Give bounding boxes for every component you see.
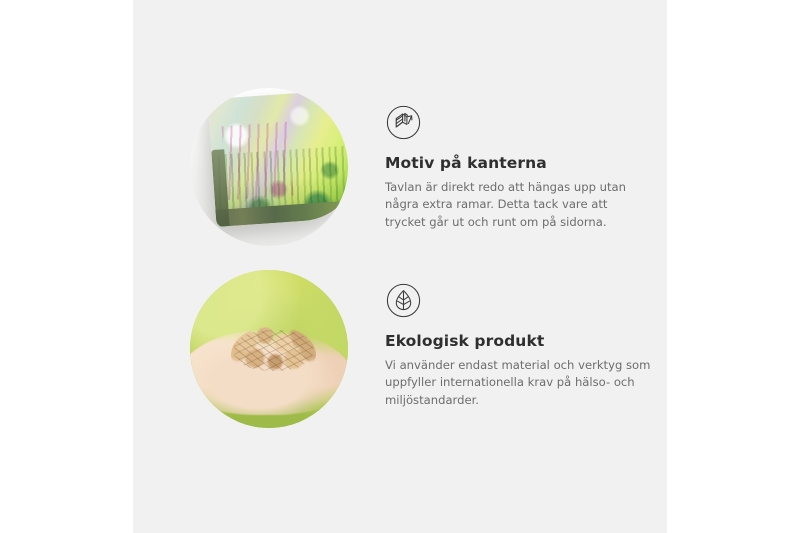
feature-body: Tavlan är direkt redo att hängas upp uta…	[385, 179, 651, 232]
canvas-print-corner-photo	[190, 88, 348, 246]
content-panel: Motiv på kanterna Tavlan är direkt redo …	[133, 0, 667, 533]
feature-text-block: Ekologisk produkt Vi använder endast mat…	[385, 282, 667, 409]
canvas-wrapped-edge-icon	[385, 104, 422, 141]
product-feature-graphic: Motiv på kanterna Tavlan är direkt redo …	[0, 0, 800, 533]
feature-body: Vi använder endast material och verktyg …	[385, 357, 651, 410]
wood-chips-texture	[234, 330, 313, 371]
feature-text-block: Motiv på kanterna Tavlan är direkt redo …	[385, 104, 667, 231]
canvas-photo-inner	[190, 88, 348, 246]
eco-photo-inner	[190, 270, 348, 428]
feature-title: Ekologisk produkt	[385, 332, 667, 351]
feature-title: Motiv på kanterna	[385, 154, 667, 173]
canvas-slab	[208, 89, 348, 227]
hands-holding-wood-chips-photo	[190, 270, 348, 428]
leaf-icon	[385, 282, 422, 319]
